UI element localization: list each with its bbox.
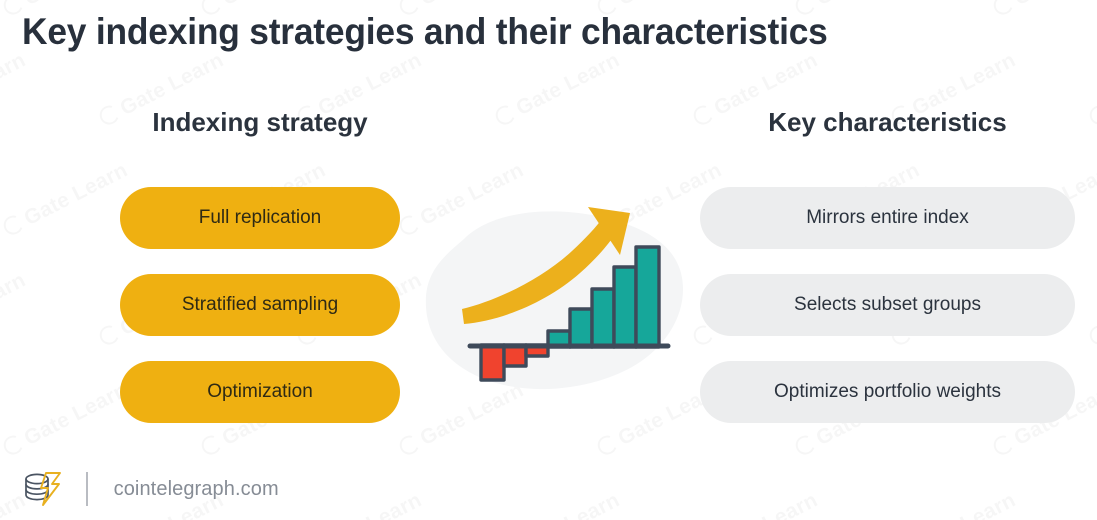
strategy-pill-stratified-sampling[interactable]: Stratified sampling — [120, 274, 400, 336]
watermark-text: Gate Learn — [492, 488, 624, 520]
watermark-text: Gate Learn — [0, 378, 132, 461]
watermark-gate-icon — [0, 432, 26, 458]
watermark-text: Gate Learn — [888, 488, 1020, 520]
watermark-gate-icon — [396, 432, 422, 458]
watermark-text: Gate Learn — [1086, 268, 1097, 351]
watermark-gate-icon — [990, 0, 1016, 18]
cointelegraph-logo — [22, 469, 64, 509]
characteristic-pill-mirrors-entire-index[interactable]: Mirrors entire index — [700, 187, 1075, 249]
watermark-gate-icon — [594, 432, 620, 458]
watermark-gate-icon — [96, 102, 122, 128]
footer-divider — [86, 472, 88, 506]
strategy-pill-optimization[interactable]: Optimization — [120, 361, 400, 423]
watermark-gate-icon — [990, 432, 1016, 458]
watermark-gate-icon — [96, 322, 122, 348]
column-header-key-characteristics: Key characteristics — [700, 107, 1075, 138]
watermark-text: Gate Learn — [0, 48, 30, 131]
watermark-text: Gate Learn — [690, 488, 822, 520]
watermark-text: Gate Learn — [1086, 488, 1097, 520]
watermark-text: Gate Learn — [990, 0, 1097, 21]
watermark-text: Gate Learn — [1086, 48, 1097, 131]
watermark-gate-icon — [492, 102, 518, 128]
characteristic-pill-selects-subset-groups[interactable]: Selects subset groups — [700, 274, 1075, 336]
watermark-gate-icon — [1086, 322, 1097, 348]
watermark-gate-icon — [1086, 102, 1097, 128]
characteristic-pill-optimizes-portfolio-weights[interactable]: Optimizes portfolio weights — [700, 361, 1075, 423]
growth-chart-icon — [420, 205, 690, 405]
watermark-text: Gate Learn — [0, 158, 132, 241]
footer: cointelegraph.com — [22, 466, 279, 512]
page-title: Key indexing strategies and their charac… — [22, 11, 828, 53]
watermark-text: Gate Learn — [294, 488, 426, 520]
column-header-indexing-strategy: Indexing strategy — [120, 107, 400, 138]
watermark-gate-icon — [198, 432, 224, 458]
watermark-text: Gate Learn — [492, 48, 624, 131]
watermark-gate-icon — [0, 212, 26, 238]
footer-url[interactable]: cointelegraph.com — [114, 478, 279, 501]
strategy-pill-full-replication[interactable]: Full replication — [120, 187, 400, 249]
lightning-bolt-icon — [41, 473, 60, 505]
watermark-gate-icon — [396, 212, 422, 238]
watermark-gate-icon — [792, 432, 818, 458]
watermark-text: Gate Learn — [0, 268, 30, 351]
